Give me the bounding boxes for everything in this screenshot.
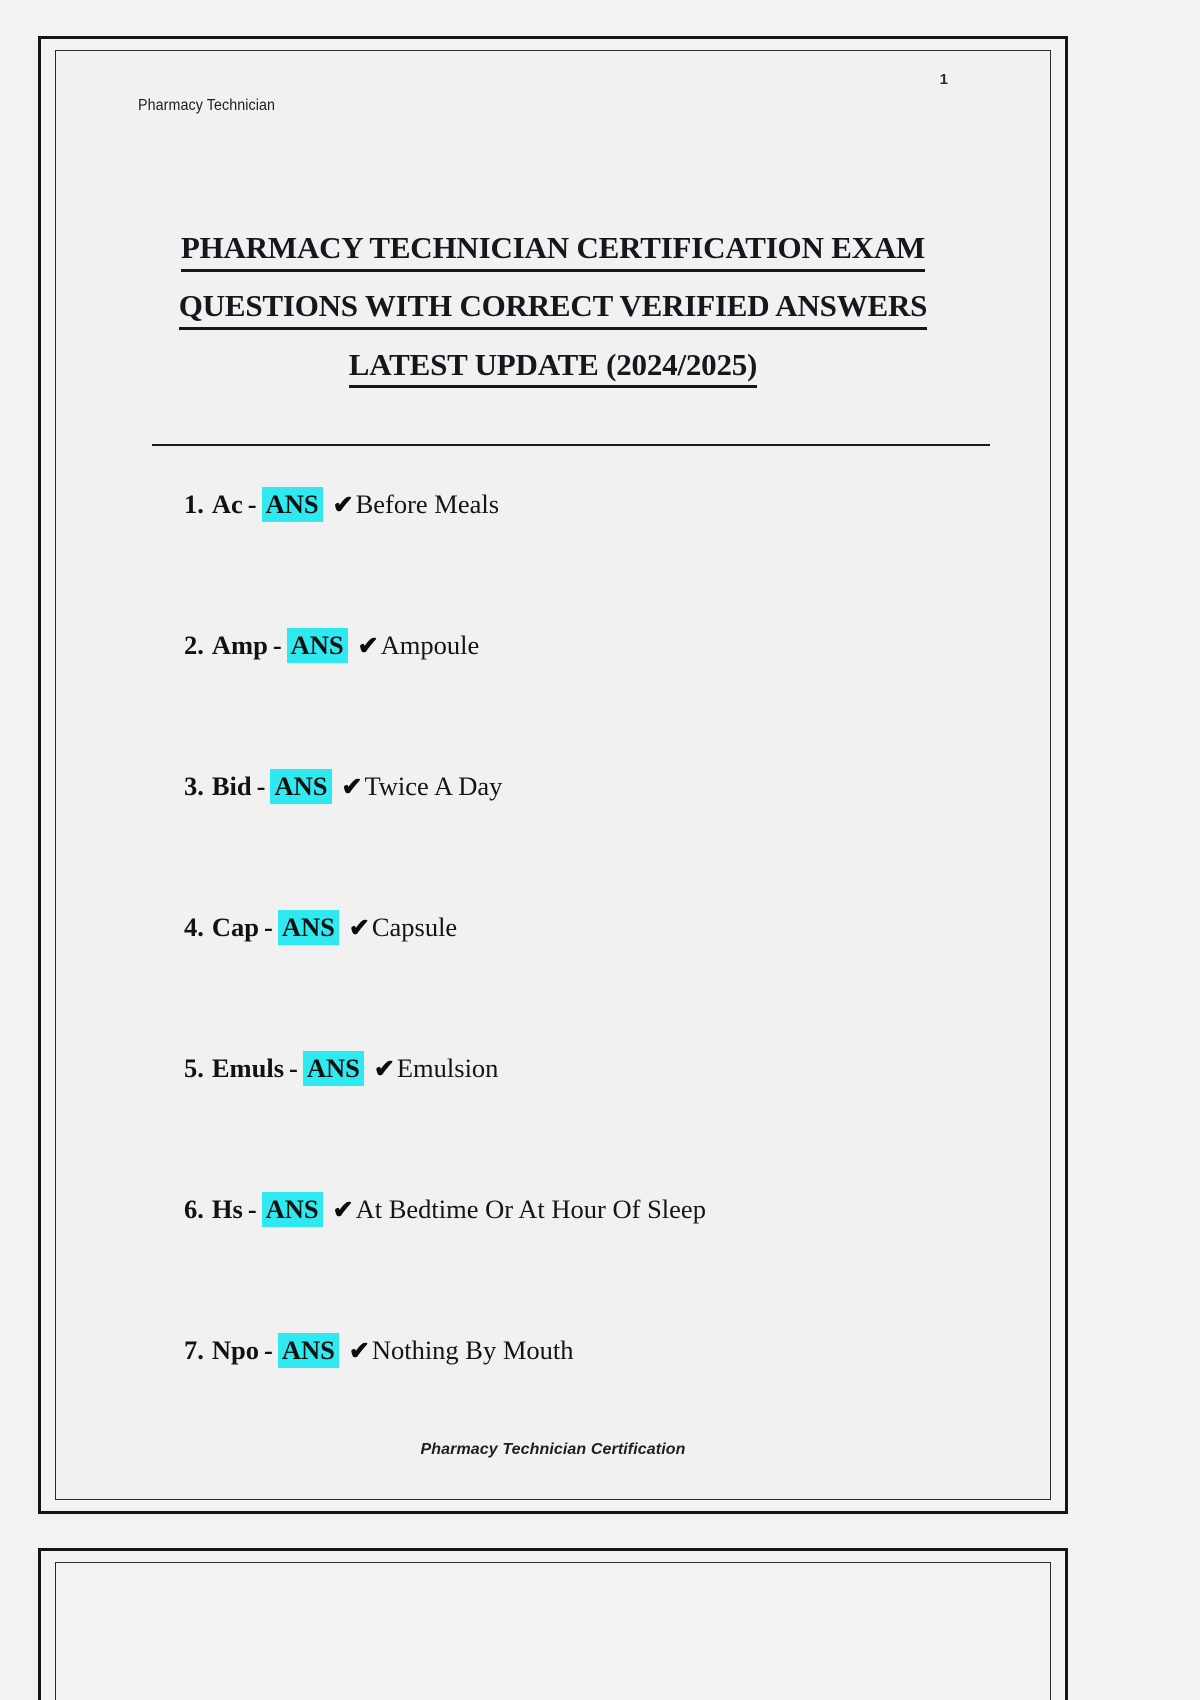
qa-dash: - [248, 489, 257, 519]
qa-number: 1. [184, 489, 204, 519]
title-line-2: QUESTIONS WITH CORRECT VERIFIED ANSWERS [126, 277, 980, 335]
qa-line: 2.Amp-ANS✔Ampoule [184, 630, 479, 660]
title-line-3-text: LATEST UPDATE (2024/2025) [349, 348, 757, 389]
qa-dash: - [289, 1053, 298, 1083]
answer-marker-badge: ANS [278, 910, 339, 945]
qa-line: 7.Npo-ANS✔Nothing By Mouth [184, 1335, 574, 1365]
qa-term: Npo [212, 1335, 259, 1365]
qa-answer: Ampoule [381, 630, 480, 660]
next-page-edge-inner [55, 1562, 1051, 1700]
list-item: 5.Emuls-ANS✔Emulsion [184, 1055, 1000, 1196]
qa-number: 7. [184, 1335, 204, 1365]
qa-line: 4.Cap-ANS✔Capsule [184, 912, 457, 942]
qa-answer: Twice A Day [364, 771, 502, 801]
page-title: PHARMACY TECHNICIAN CERTIFICATION EXAM Q… [126, 219, 980, 394]
qa-dash: - [273, 630, 282, 660]
checkmark-icon: ✔ [349, 915, 369, 942]
qa-number: 6. [184, 1194, 204, 1224]
answer-marker-badge: ANS [262, 487, 323, 522]
next-page-edge [38, 1548, 1068, 1700]
qa-line: 5.Emuls-ANS✔Emulsion [184, 1053, 498, 1083]
document-page-inner: Pharmacy Technician 1 PHARMACY TECHNICIA… [55, 50, 1051, 1500]
qa-number: 2. [184, 630, 204, 660]
qa-line: 3.Bid-ANS✔Twice A Day [184, 771, 502, 801]
list-item: 3.Bid-ANS✔Twice A Day [184, 773, 1000, 914]
qa-line: 1.Ac-ANS✔Before Meals [184, 489, 499, 519]
list-item: 2.Amp-ANS✔Ampoule [184, 632, 1000, 773]
qa-dash: - [264, 1335, 273, 1365]
qa-number: 5. [184, 1053, 204, 1083]
document-page: Pharmacy Technician 1 PHARMACY TECHNICIA… [38, 36, 1068, 1514]
qa-number: 4. [184, 912, 204, 942]
document-header: Pharmacy Technician 1 [138, 97, 990, 127]
list-item: 4.Cap-ANS✔Capsule [184, 914, 1000, 1055]
list-item: 6.Hs-ANS✔At Bedtime Or At Hour Of Sleep [184, 1196, 1000, 1337]
checkmark-icon: ✔ [349, 1338, 369, 1365]
qa-answer: Before Meals [356, 489, 500, 519]
qa-term: Cap [212, 912, 259, 942]
checkmark-icon: ✔ [358, 633, 378, 660]
qa-answer: Capsule [372, 912, 457, 942]
checkmark-icon: ✔ [333, 492, 353, 519]
title-line-3: LATEST UPDATE (2024/2025) [126, 336, 980, 394]
page-number: 1 [940, 71, 948, 88]
qa-number: 3. [184, 771, 204, 801]
qa-list: 1.Ac-ANS✔Before Meals 2.Amp-ANS✔Ampoule … [184, 491, 1000, 1478]
answer-marker-badge: ANS [262, 1192, 323, 1227]
answer-marker-badge: ANS [278, 1333, 339, 1368]
list-item: 1.Ac-ANS✔Before Meals [184, 491, 1000, 632]
checkmark-icon: ✔ [333, 1197, 353, 1224]
title-divider [152, 444, 990, 446]
qa-answer: Nothing By Mouth [372, 1335, 574, 1365]
title-line-2-text: QUESTIONS WITH CORRECT VERIFIED ANSWERS [179, 289, 927, 330]
answer-marker-badge: ANS [270, 769, 331, 804]
qa-dash: - [248, 1194, 257, 1224]
qa-term: Amp [212, 630, 268, 660]
qa-answer: At Bedtime Or At Hour Of Sleep [356, 1194, 706, 1224]
answer-marker-badge: ANS [287, 628, 348, 663]
qa-answer: Emulsion [397, 1053, 499, 1083]
header-title: Pharmacy Technician [138, 97, 275, 115]
page-footer: Pharmacy Technician Certification [56, 1441, 1050, 1459]
title-line-1-text: PHARMACY TECHNICIAN CERTIFICATION EXAM [181, 231, 925, 272]
answer-marker-badge: ANS [303, 1051, 364, 1086]
qa-term: Emuls [212, 1053, 284, 1083]
title-line-1: PHARMACY TECHNICIAN CERTIFICATION EXAM [126, 219, 980, 277]
checkmark-icon: ✔ [342, 774, 362, 801]
qa-line: 6.Hs-ANS✔At Bedtime Or At Hour Of Sleep [184, 1194, 706, 1224]
qa-term: Bid [212, 771, 252, 801]
qa-term: Hs [212, 1194, 243, 1224]
qa-dash: - [264, 912, 273, 942]
qa-dash: - [257, 771, 266, 801]
qa-term: Ac [212, 489, 243, 519]
checkmark-icon: ✔ [374, 1056, 394, 1083]
